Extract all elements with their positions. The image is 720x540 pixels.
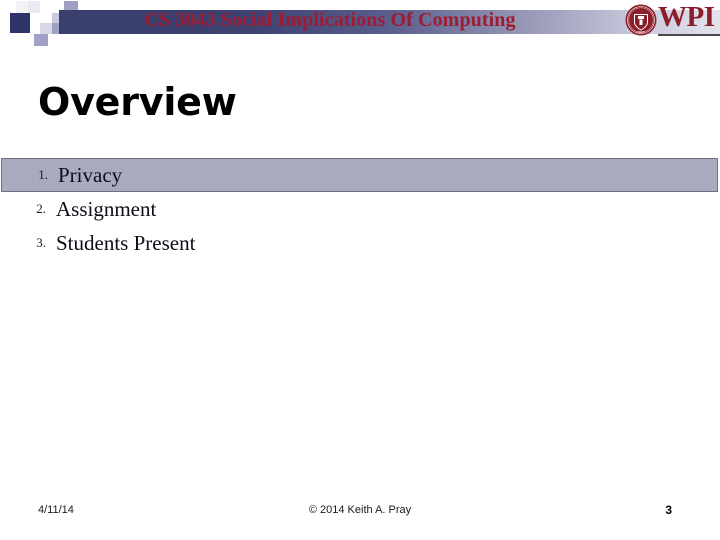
wpi-wordmark: WPI (658, 3, 715, 32)
outline-item-number: 3. (0, 235, 56, 251)
outline-item-number: 1. (2, 167, 58, 183)
page-title: Overview (38, 80, 237, 124)
slide-footer: 4/11/14 © 2014 Keith A. Pray 3 (0, 494, 720, 540)
wpi-seal-icon: 1865 (625, 4, 657, 36)
outline-item[interactable]: 1.Privacy (1, 158, 718, 192)
outline-item-label: Students Present (56, 231, 195, 256)
outline-item-label: Assignment (56, 197, 156, 222)
footer-page-number: 3 (665, 503, 672, 517)
slide-header: CS 3043 Social Implications Of Computing… (0, 0, 720, 48)
outline-item-label: Privacy (58, 163, 122, 188)
course-title: CS 3043 Social Implications Of Computing (0, 9, 660, 32)
wpi-logo: 1865 WPI (625, 1, 720, 41)
outline-item[interactable]: 2.Assignment (0, 192, 720, 226)
footer-copyright: © 2014 Keith A. Pray (0, 504, 720, 516)
decorative-square (34, 34, 48, 46)
outline-item[interactable]: 3.Students Present (0, 226, 720, 260)
outline-item-number: 2. (0, 201, 56, 217)
svg-text:1865: 1865 (637, 30, 645, 34)
outline-list: 1.Privacy2.Assignment3.Students Present (0, 158, 720, 260)
wpi-underline-rule (658, 34, 720, 36)
